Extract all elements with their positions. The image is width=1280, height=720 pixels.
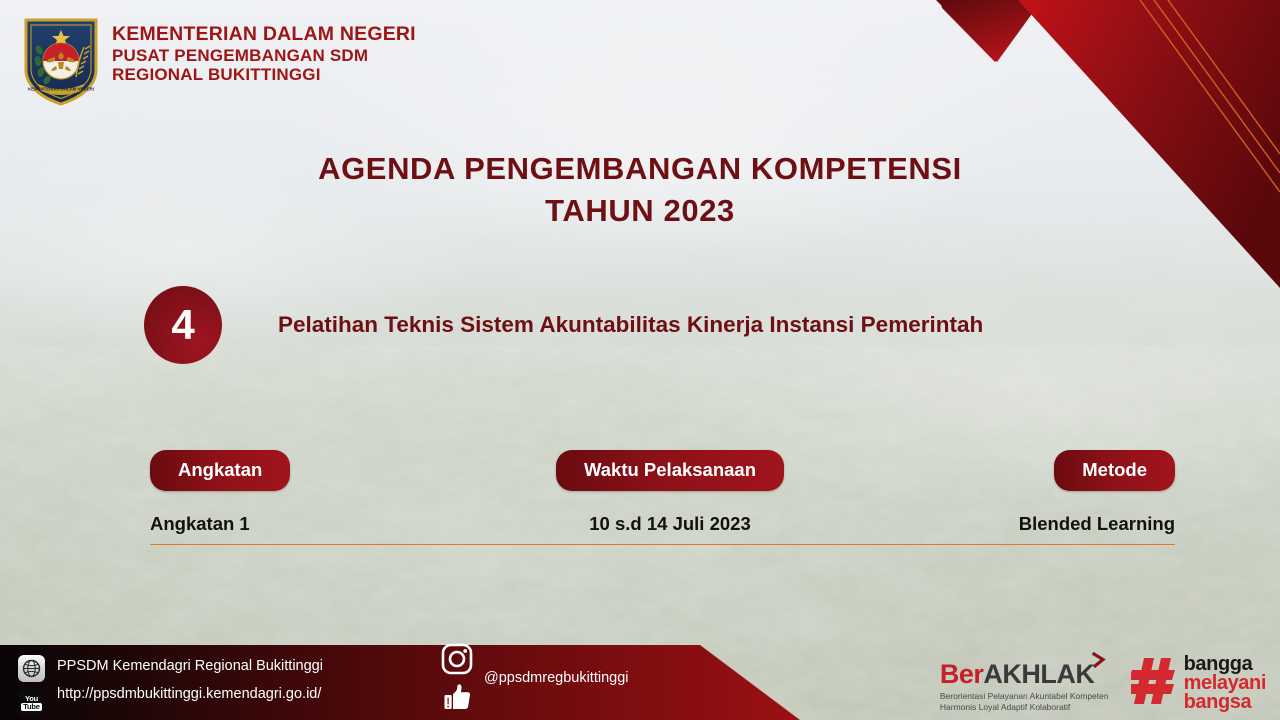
berakhlak-wordmark: Ber AKHLAK: [940, 661, 1109, 688]
youtube-icon[interactable]: You Tube: [18, 689, 45, 716]
cell-angkatan: Angkatan 1: [150, 513, 450, 535]
program-title: Pelatihan Teknis Sistem Akuntabilitas Ki…: [278, 312, 983, 338]
bangga-wordmark: bangga melayani bangsa: [1184, 655, 1266, 712]
footer-website-label: PPSDM Kemendagri Regional Bukittinggi: [57, 658, 323, 674]
title-line-2: TAHUN 2023: [0, 190, 1280, 232]
bangga-line-3: bangsa: [1184, 693, 1266, 712]
table-header-cell-waktu: Waktu Pelaksanaan: [450, 450, 890, 491]
berakhlak-subtitle: Berorientasi Pelayanan Akuntabel Kompete…: [940, 691, 1109, 712]
cell-waktu: 10 s.d 14 Juli 2023: [450, 513, 890, 535]
footer-website-url[interactable]: http://ppsdmbukittinggi.kemendagri.go.id…: [57, 686, 323, 702]
org-line-3: REGIONAL BUKITTINGGI: [112, 65, 416, 84]
schedule-table: Angkatan Waktu Pelaksanaan Metode Angkat…: [150, 450, 1175, 545]
globe-icon[interactable]: [18, 655, 45, 682]
footer-contact-text: PPSDM Kemendagri Regional Bukittinggi ht…: [57, 652, 323, 702]
table-header-cell-metode: Metode: [890, 450, 1175, 491]
hash-icon: [1131, 656, 1177, 711]
header-pill-angkatan: Angkatan: [150, 450, 290, 491]
header-pill-metode: Metode: [1054, 450, 1175, 491]
org-line-1: KEMENTERIAN DALAM NEGERI: [112, 24, 416, 46]
program-row: 4 Pelatihan Teknis Sistem Akuntabilitas …: [144, 286, 983, 364]
organization-name: KEMENTERIAN DALAM NEGERI PUSAT PENGEMBAN…: [112, 14, 416, 84]
thumbs-up-icon[interactable]: [442, 683, 472, 716]
kemendagri-crest-icon: KEMENTERIAN DALAM NEGERI: [22, 14, 100, 106]
cell-metode: Blended Learning: [890, 513, 1175, 535]
footer-contact-icons: You Tube: [18, 652, 45, 716]
berakhlak-logo: Ber AKHLAK Berorientasi Pelayanan Akunta…: [940, 661, 1109, 712]
footer-brand-logos: Ber AKHLAK Berorientasi Pelayanan Akunta…: [940, 655, 1266, 712]
svg-text:KEMENTERIAN DALAM NEGERI: KEMENTERIAN DALAM NEGERI: [28, 86, 94, 91]
instagram-icon[interactable]: [440, 642, 474, 681]
table-row: Angkatan 1 10 s.d 14 Juli 2023 Blended L…: [150, 513, 1175, 545]
table-header-row: Angkatan Waktu Pelaksanaan Metode: [150, 450, 1175, 491]
berakhlak-akhlak: AKHLAK: [983, 661, 1094, 688]
header-pill-waktu: Waktu Pelaksanaan: [556, 450, 784, 491]
bangga-melayani-bangsa-logo: bangga melayani bangsa: [1131, 655, 1266, 712]
berakhlak-ber: Ber: [940, 661, 984, 688]
program-number-badge: 4: [144, 286, 222, 364]
title-line-1: AGENDA PENGEMBANGAN KOMPETENSI: [0, 148, 1280, 190]
page-title: AGENDA PENGEMBANGAN KOMPETENSI TAHUN 202…: [0, 148, 1280, 232]
youtube-you-text: You: [25, 695, 38, 703]
berakhlak-sub-line-2: Harmonis Loyal Adaptif Kolaboratif: [940, 702, 1109, 712]
footer-social-handle: @ppsdmregbukittinggi: [484, 642, 629, 686]
berakhlak-tick-icon: [1091, 652, 1107, 673]
header: KEMENTERIAN DALAM NEGERI KEMENTERIAN DAL…: [22, 14, 416, 106]
footer-social-icons: [440, 642, 474, 716]
footer-contact: You Tube PPSDM Kemendagri Regional Bukit…: [18, 652, 323, 716]
table-header-cell-angkatan: Angkatan: [150, 450, 450, 491]
footer-social: @ppsdmregbukittinggi: [440, 642, 629, 716]
youtube-tube-text: Tube: [21, 703, 42, 711]
slide-canvas: KEMENTERIAN DALAM NEGERI KEMENTERIAN DAL…: [0, 0, 1280, 720]
berakhlak-sub-line-1: Berorientasi Pelayanan Akuntabel Kompete…: [940, 691, 1109, 701]
org-line-2: PUSAT PENGEMBANGAN SDM: [112, 46, 416, 65]
